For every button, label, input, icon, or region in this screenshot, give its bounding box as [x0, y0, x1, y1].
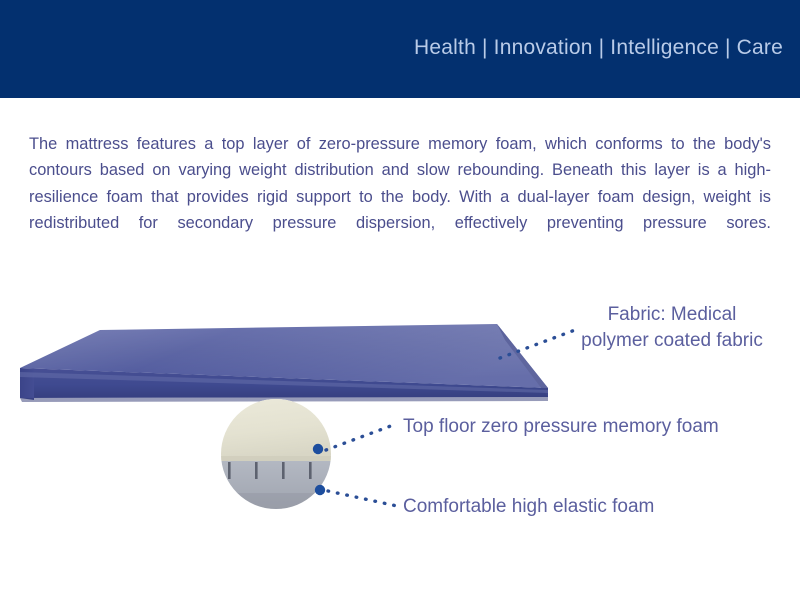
- callout-label-elastic-foam: Comfortable high elastic foam: [403, 494, 654, 520]
- header-title: Health | Innovation | Intelligence | Car…: [414, 35, 783, 61]
- leader-line-top-foam: [326, 424, 396, 450]
- leader-dot-top-foam: [313, 444, 323, 454]
- leader-dot-elastic: [315, 485, 325, 495]
- callout-fabric-line1: Fabric: Medical: [556, 302, 788, 328]
- header-banner: Health | Innovation | Intelligence | Car…: [0, 0, 800, 98]
- detail-bottom-shade: [215, 493, 339, 513]
- callout-fabric-line2: polymer coated fabric: [556, 328, 788, 354]
- leader-line-elastic: [328, 491, 397, 506]
- slide-canvas: Health | Innovation | Intelligence | Car…: [0, 0, 800, 600]
- memory-foam-edge: [215, 456, 339, 461]
- mattress-body: [20, 324, 548, 402]
- callout-label-fabric: Fabric: Medical polymer coated fabric: [556, 302, 788, 354]
- product-description-paragraph: The mattress features a top layer of zer…: [29, 131, 771, 262]
- callout-label-top-foam: Top floor zero pressure memory foam: [403, 414, 719, 440]
